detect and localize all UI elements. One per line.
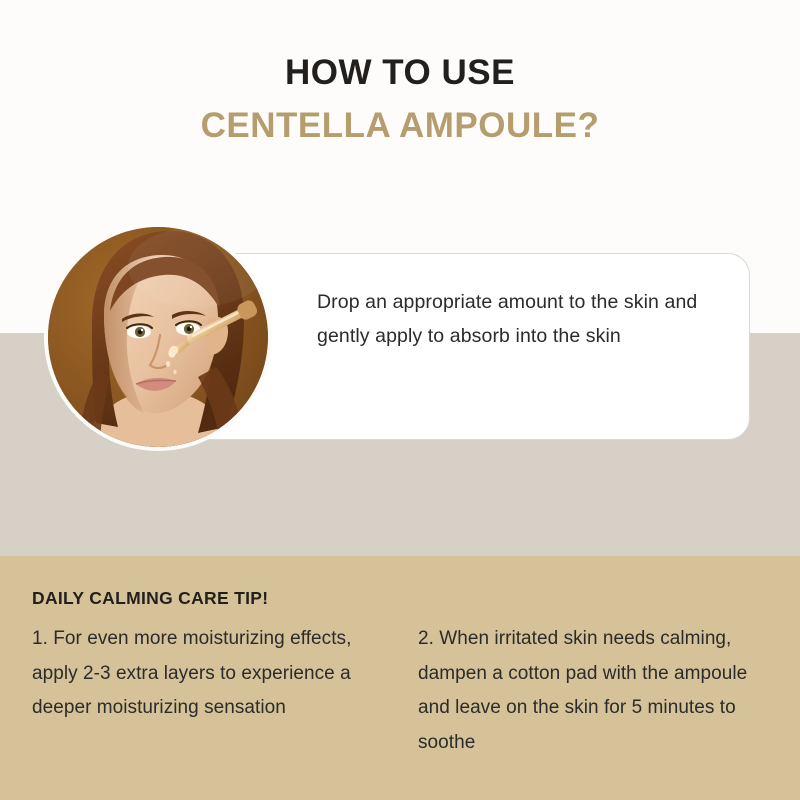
title-line-primary: HOW TO USE bbox=[0, 52, 800, 93]
instruction-text: Drop an appropriate amount to the skin a… bbox=[317, 286, 727, 353]
page-title: HOW TO USE CENTELLA AMPOULE? bbox=[0, 52, 800, 147]
woman-applying-serum-dropper-photo bbox=[48, 227, 268, 447]
tip-item-1: 1. For even more moisturizing effects, a… bbox=[32, 622, 384, 760]
title-line-accent: CENTELLA AMPOULE? bbox=[0, 105, 800, 146]
daily-tip-section: DAILY CALMING CARE TIP! 1. For even more… bbox=[0, 556, 800, 800]
tip-item-2: 2. When irritated skin needs calming, da… bbox=[418, 622, 776, 760]
how-to-use-infographic: HOW TO USE CENTELLA AMPOULE? Drop an app… bbox=[0, 0, 800, 800]
tip-columns: 1. For even more moisturizing effects, a… bbox=[32, 622, 777, 760]
tip-heading: DAILY CALMING CARE TIP! bbox=[32, 588, 268, 609]
